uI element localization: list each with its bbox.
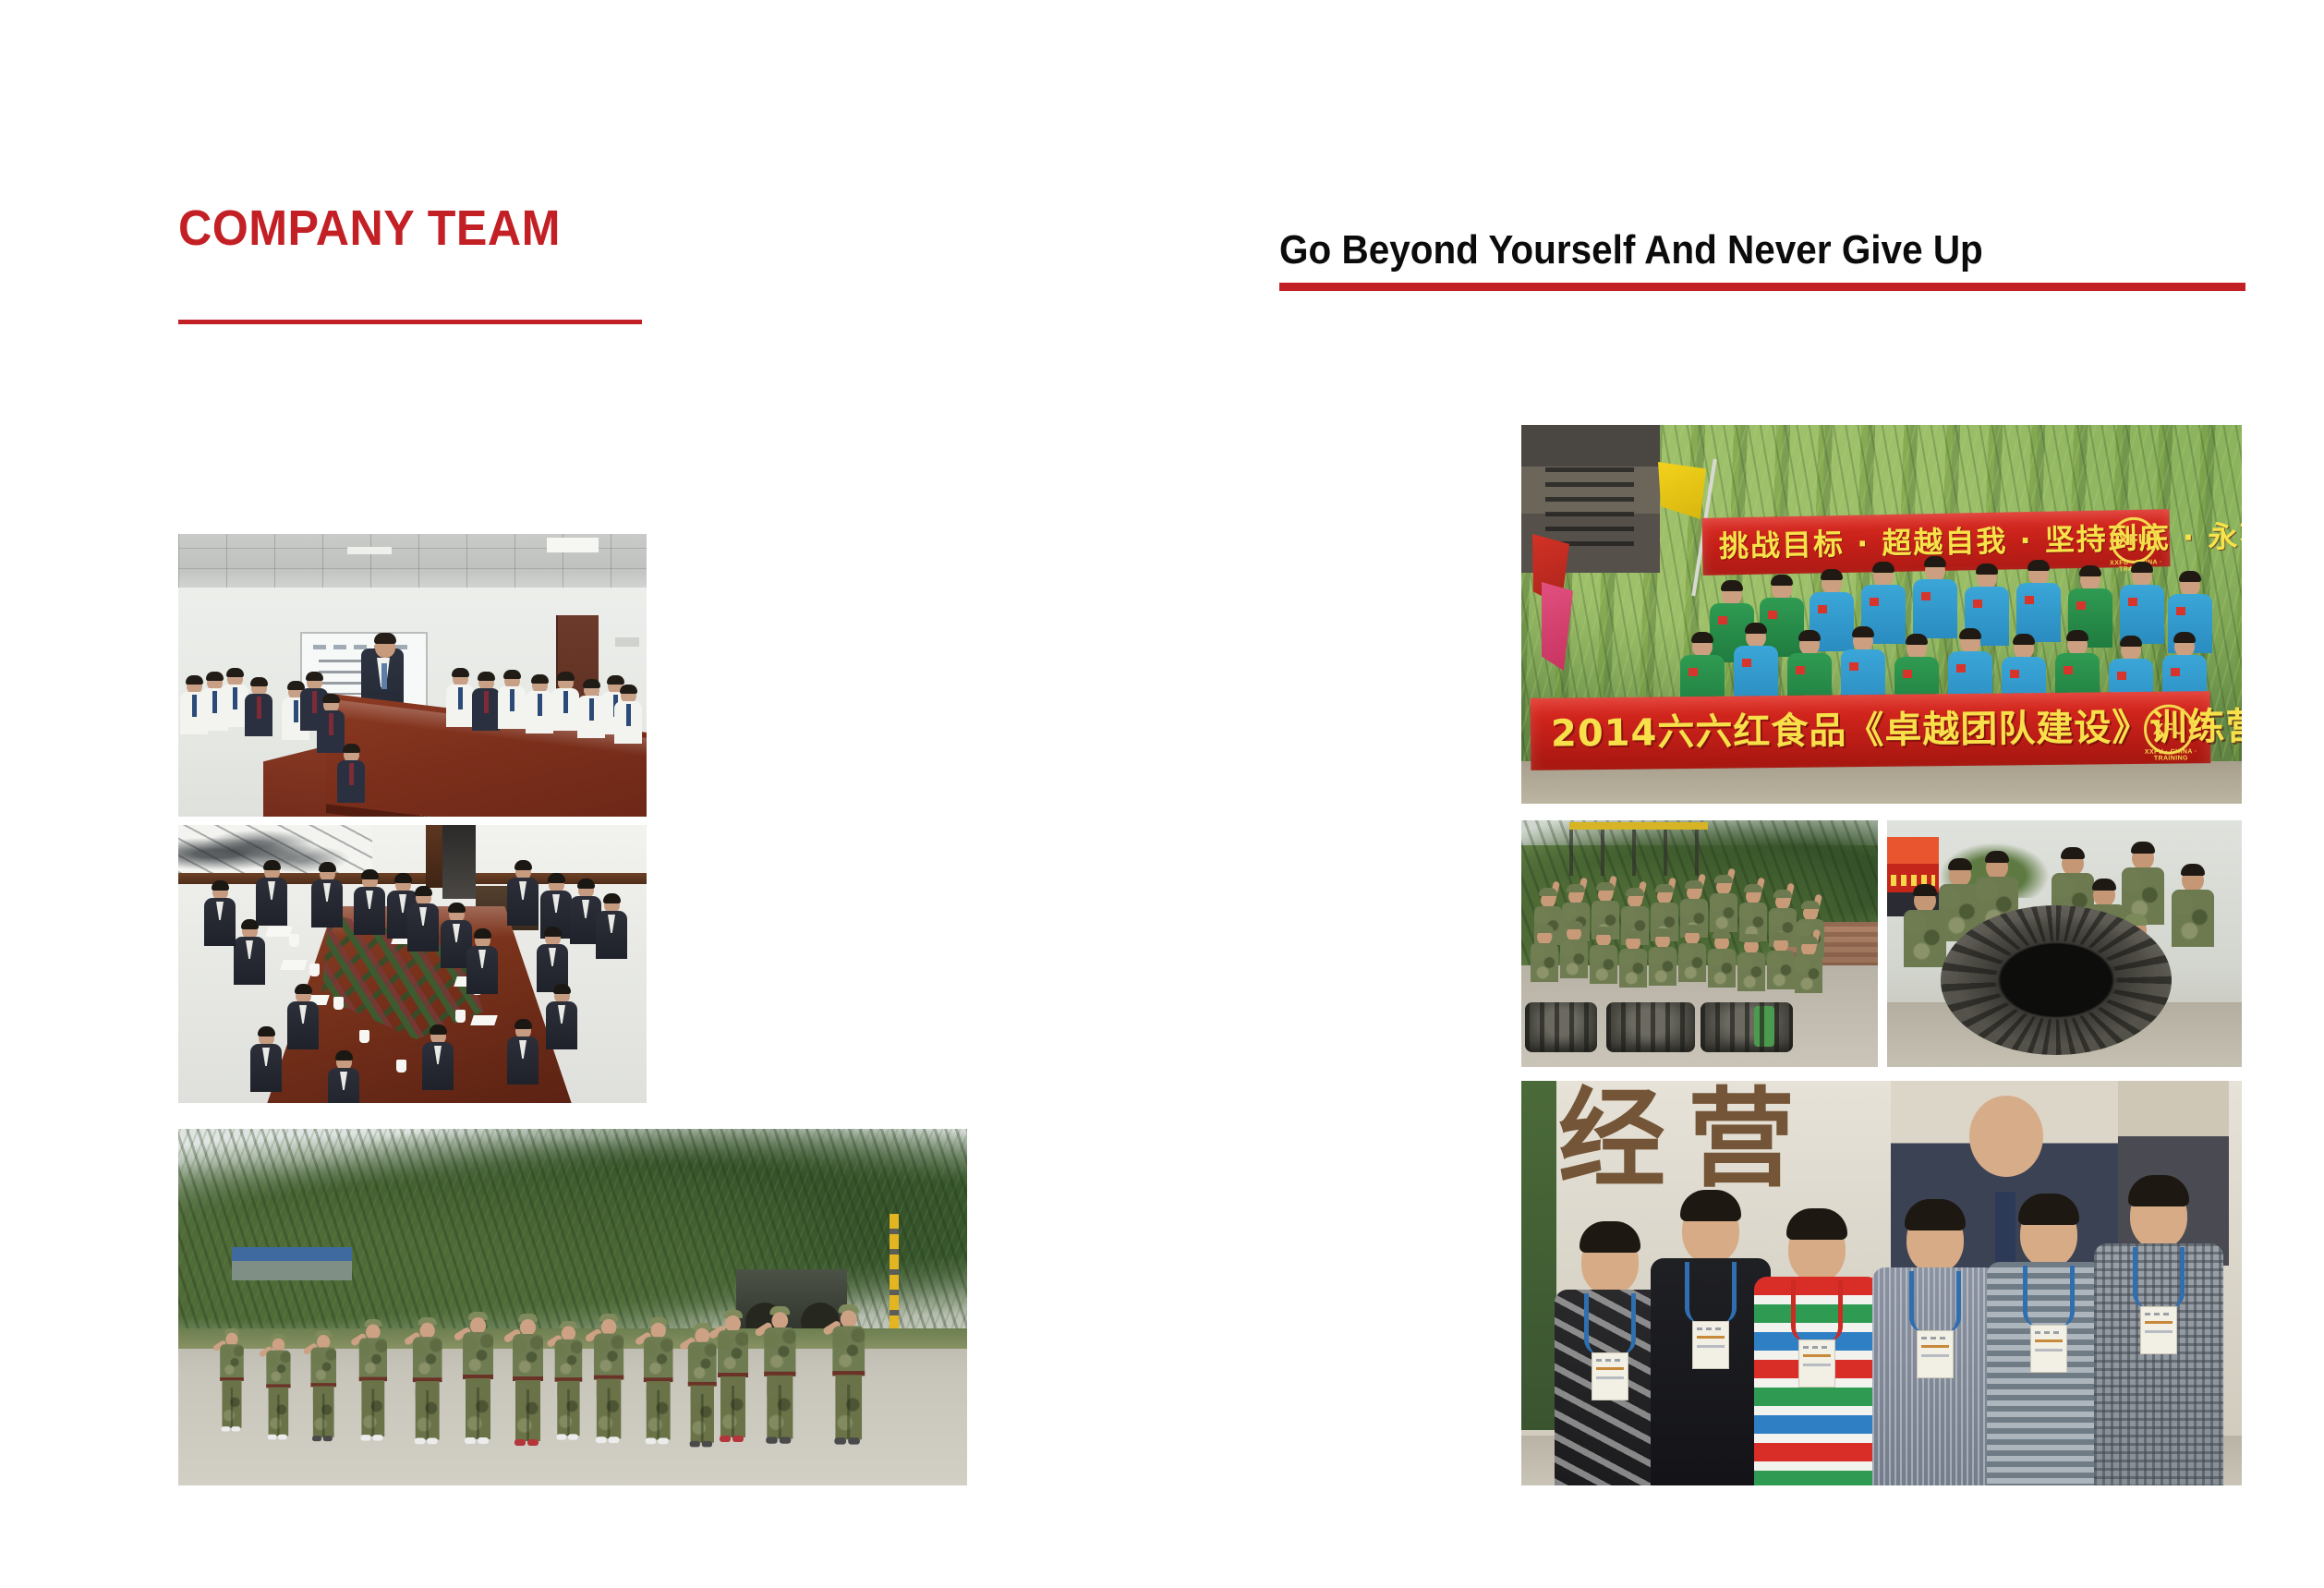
training-banner-bottom: 2014六六红食品《卓越团队建设》训练营 XFU XXFU · CHINA · … bbox=[1531, 691, 2211, 770]
photo-1-scene bbox=[178, 534, 647, 817]
photo-tire-flip-exercise: Team members in camouflage pushing and f… bbox=[1887, 820, 2242, 1067]
yellow-pole bbox=[890, 1214, 899, 1339]
teacup bbox=[455, 1010, 466, 1023]
teacup bbox=[396, 1060, 406, 1073]
photo-3-scene bbox=[178, 1129, 967, 1485]
photo-boardroom-discussion: Management meeting in boardroom, attende… bbox=[178, 825, 647, 1103]
training-tire bbox=[1701, 1002, 1793, 1052]
banner-top-text: 挑战目标 · 超越自我 · 坚持到底 · 永不放弃 bbox=[1719, 520, 2242, 562]
training-tire bbox=[1525, 1002, 1597, 1052]
photo-2-scene bbox=[178, 825, 647, 1103]
backdrop-chinese-characters: 经营 bbox=[1558, 1086, 1817, 1194]
teacup bbox=[359, 1030, 369, 1043]
left-title-underline bbox=[178, 320, 642, 324]
banner-bottom-text: 2014六六红食品《卓越团队建设》训练营 bbox=[1551, 709, 2242, 753]
teacup bbox=[333, 997, 344, 1010]
right-section-header: Go Beyond Yourself And Never Give Up bbox=[1279, 229, 2245, 291]
photo-6-scene bbox=[1887, 820, 2242, 1067]
large-tractor-tire bbox=[1941, 905, 2172, 1055]
xfu-logo-icon: XFU bbox=[2144, 704, 2195, 755]
photo-meeting-room-presentation: Company meeting in conference room with … bbox=[178, 534, 647, 817]
attendee-with-badge bbox=[1872, 1206, 1998, 1485]
teacup bbox=[309, 964, 320, 976]
glass-door bbox=[442, 825, 476, 899]
wall-sign bbox=[615, 637, 639, 647]
door-frame bbox=[426, 825, 442, 888]
brochure-page: COMPANY TEAM Go Beyond Yourself And Neve… bbox=[0, 0, 2324, 1588]
climbing-rig bbox=[1569, 822, 1708, 876]
photo-tire-team-cheer: Team in camouflage uniforms cheering wit… bbox=[1521, 820, 1878, 1067]
photo-conference-group-badges: 经营 Six colleagues wearing conference lan… bbox=[1521, 1081, 2242, 1485]
photo-5-scene bbox=[1521, 820, 1878, 1067]
photo-military-training-salute: Employees in camouflage uniforms standin… bbox=[178, 1129, 967, 1485]
training-tire bbox=[1606, 1002, 1695, 1052]
photo-7-scene: 经营 bbox=[1521, 1081, 2242, 1485]
teacup bbox=[289, 934, 299, 947]
blue-roof-building bbox=[232, 1247, 352, 1280]
attendee-with-badge bbox=[1754, 1216, 1880, 1485]
document-sheet bbox=[470, 1015, 498, 1025]
foliage-left-edge bbox=[1521, 1081, 1556, 1430]
attendee-with-badge bbox=[1555, 1229, 1665, 1485]
page-title-go-beyond-yourself: Go Beyond Yourself And Never Give Up bbox=[1279, 229, 2168, 272]
presenter-tie bbox=[381, 663, 387, 689]
page-title-company-team: COMPANY TEAM bbox=[178, 203, 694, 253]
photo-team-banner-group: 挑战目标 · 超越自我 · 坚持到底 · 永不放弃 XFU XXFU · CHI… bbox=[1521, 425, 2242, 804]
xfu-logo-icon: XFU bbox=[2111, 516, 2158, 564]
presenter-head bbox=[375, 636, 395, 658]
left-section-header: COMPANY TEAM bbox=[178, 203, 732, 324]
photo-4-scene: 挑战目标 · 超越自我 · 坚持到底 · 永不放弃 XFU XXFU · CHI… bbox=[1521, 425, 2242, 804]
document-sheet bbox=[280, 960, 308, 970]
right-title-underline bbox=[1279, 283, 2245, 291]
document-sheet bbox=[265, 927, 293, 937]
tire-hole bbox=[2001, 944, 2112, 1016]
attendee-with-badge bbox=[1987, 1201, 2111, 1485]
xfu-logo-subtitle: XXFU · CHINA · TRAINING bbox=[2138, 748, 2203, 762]
ceiling-light bbox=[547, 538, 599, 552]
attendee-with-badge bbox=[2094, 1182, 2223, 1485]
wood-wall-trim bbox=[178, 873, 647, 884]
attendee-with-badge bbox=[1651, 1197, 1771, 1485]
